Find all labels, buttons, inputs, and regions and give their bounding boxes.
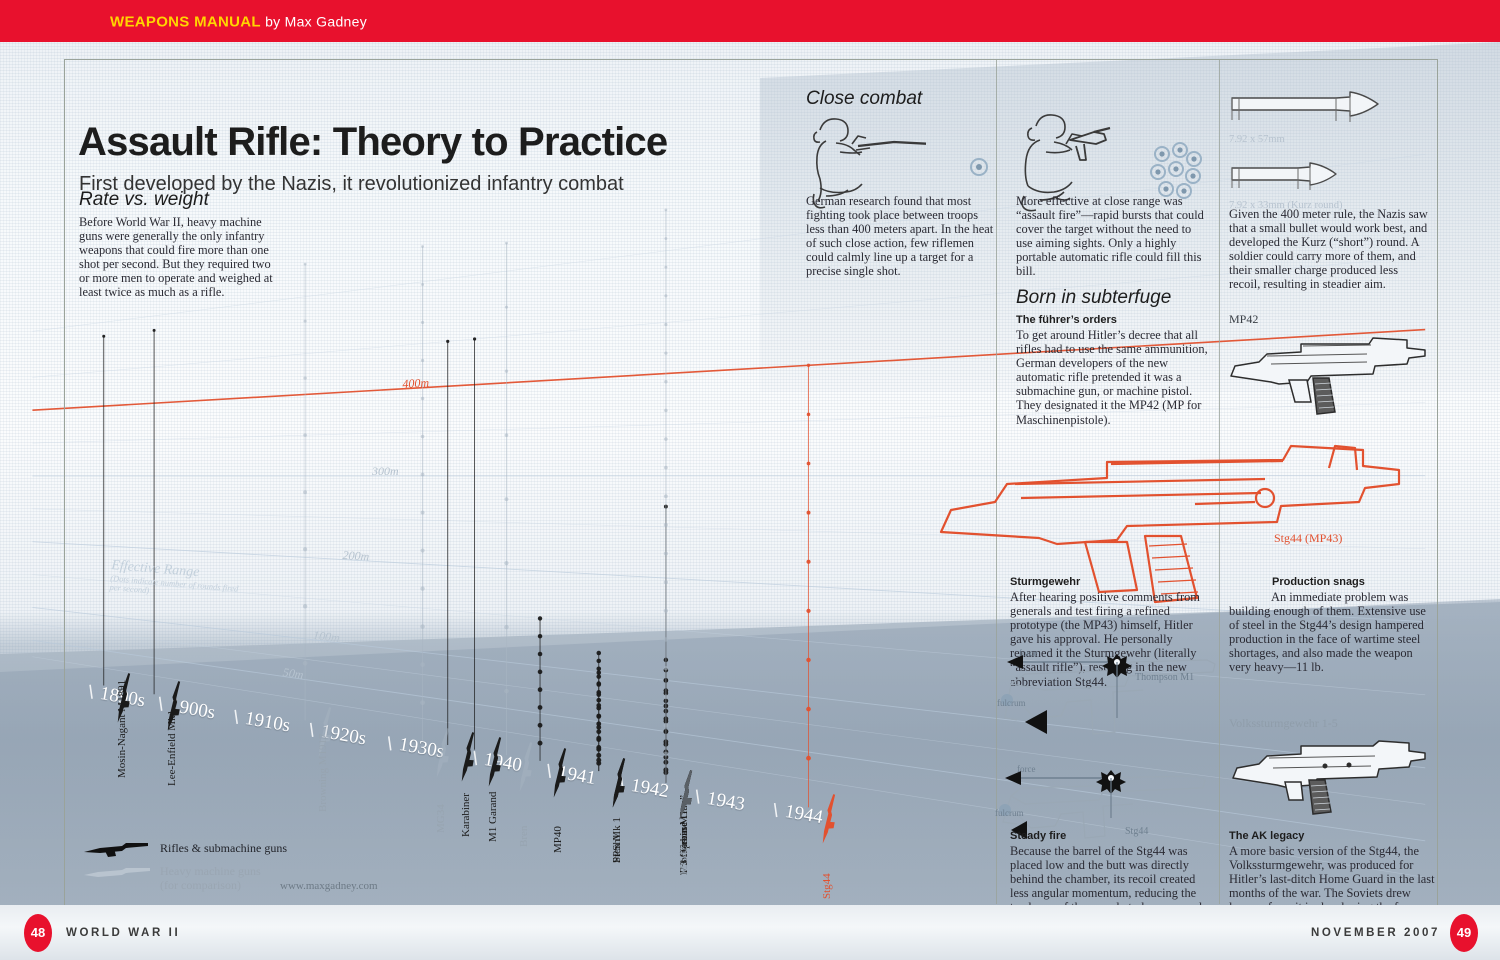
range-tick-50m: 50m — [282, 665, 305, 683]
kicker-label: WEAPONS MANUAL — [110, 14, 261, 31]
svg-text:Thompson M1: Thompson M1 — [1135, 672, 1194, 683]
section-subterfuge-heading: Born in subterfuge — [1016, 287, 1171, 309]
range-tick-400m: 400m — [402, 375, 429, 392]
svg-text:fulcrum: fulcrum — [995, 808, 1024, 818]
sturmgewehr-label: Sturmgewehr — [1010, 576, 1080, 588]
range-tick-100m: 100m — [312, 628, 340, 646]
page-footer: 48 WORLD WAR II NOVEMBER 2007 49 — [0, 905, 1500, 960]
close-combat-col3: Given the 400 meter rule, the Nazis saw … — [1229, 207, 1429, 292]
magazine-kicker: WEAPONS MANUAL by Max Gadney — [110, 14, 367, 31]
weapon-name-sten-mk-1: Sten Mk 1 — [611, 817, 623, 863]
close-combat-col2: More effective at close range was “assau… — [1016, 194, 1209, 279]
weapon-name-karabiner: Karabiner — [460, 793, 472, 837]
fuhrer-orders-label: The führer’s orders — [1016, 314, 1117, 326]
cartridge-792x33-kurz-icon — [1229, 160, 1369, 204]
byline: by Max Gadney — [265, 14, 367, 30]
infographic-page: WEAPONS MANUAL by Max Gadney Assault Rif… — [0, 0, 1500, 960]
cartridge-big-label: 7.92 x 57mm — [1229, 134, 1285, 145]
legend-hmg-icon — [82, 864, 152, 882]
volkssturmgewehr-illustration — [1229, 728, 1434, 820]
credit-url: www.maxgadney.com — [280, 880, 378, 892]
legend-rifle-icon — [82, 840, 152, 858]
section-rate-vs-weight-body: Before World War II, heavy machine guns … — [79, 215, 275, 300]
footer-right-text: NOVEMBER 2007 — [1311, 927, 1440, 939]
weapon-name-lee-enfield-mk1: Lee-Enfield Mk1 — [166, 710, 178, 786]
weapon-name-stg44: Stg44 — [821, 874, 833, 900]
page-number-left: 48 — [24, 914, 52, 952]
close-combat-col1: German research found that most fighting… — [806, 194, 999, 279]
legend-item-hmg: Heavy machine guns — [160, 864, 261, 879]
top-banner: WEAPONS MANUAL by Max Gadney — [0, 0, 1500, 42]
weapon-name-m1-garand: M1 Garand — [487, 791, 499, 841]
page-canvas: Assault Rifle: Theory to Practice First … — [0, 42, 1500, 905]
weapon-name-mg34: MG34 — [435, 804, 447, 833]
page-title: Assault Rifle: Theory to Practice — [78, 120, 667, 165]
weapon-name-mp40: MP40 — [552, 826, 564, 853]
steady-fire-label: Steady fire — [1010, 830, 1066, 842]
gun-label-stg44: Stg44 (MP43) — [1274, 531, 1342, 546]
weapon-name-browning-m1917: Browning M1917 — [317, 734, 329, 813]
legend-item-rifles: Rifles & submachine guns — [160, 841, 287, 856]
svg-text:force: force — [1019, 648, 1037, 658]
page-number-right: 49 — [1450, 914, 1478, 952]
mp42-rifle-illustration — [1227, 324, 1432, 420]
footer-left-text: WORLD WAR II — [66, 927, 180, 939]
svg-text:Stg44: Stg44 — [1125, 826, 1148, 837]
single-shot-target-icon — [968, 156, 990, 178]
legend-item-hmg-note: (for comparison) — [160, 878, 241, 893]
ak-legacy-label: The AK legacy — [1229, 830, 1304, 842]
cartridge-792x57-icon — [1229, 90, 1399, 134]
production-snags-label: Production snags — [1272, 576, 1365, 588]
section-rate-vs-weight-heading: Rate vs. weight — [79, 189, 209, 211]
weapon-name-bren: Bren — [518, 826, 530, 847]
weapon-name-mg42: MG42 — [678, 846, 690, 875]
range-tick-300m: 300m — [372, 464, 399, 479]
svg-text:fulcrum: fulcrum — [997, 698, 1026, 708]
range-tick-200m: 200m — [342, 548, 369, 565]
production-snags-body: An immediate problem was building enough… — [1229, 590, 1437, 675]
weapon-name-mosin-nagant-m1891: Mosin-Nagant M1891 — [116, 679, 128, 777]
svg-text:force: force — [1017, 764, 1035, 774]
